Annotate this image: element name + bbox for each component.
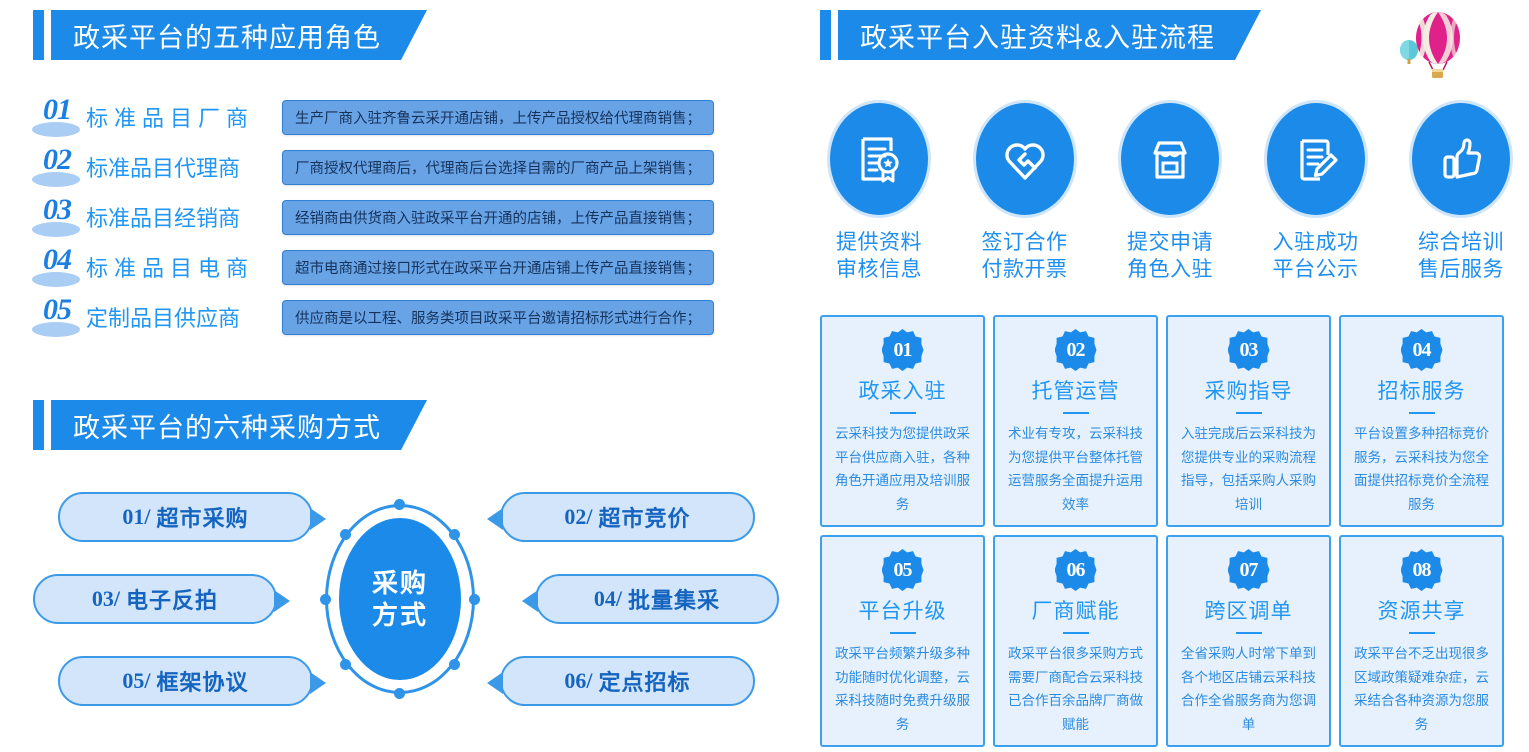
purchase-item-label: 超市竞价 — [599, 501, 691, 533]
step-caption-line1: 提交申请 — [1127, 230, 1213, 257]
hub-label-line2: 方式 — [372, 599, 428, 632]
step-caption-line2: 角色入驻 — [1127, 257, 1213, 284]
role-number: 04 — [28, 245, 86, 289]
card-body: 政采平台很多采购方式需要厂商配合云采科技已合作百余品牌厂商做赋能 — [1005, 642, 1146, 737]
purchase-item-label: 定点招标 — [599, 665, 691, 697]
role-number-text: 04 — [28, 243, 86, 277]
card-divider — [1409, 412, 1435, 414]
card-badge: 07 — [1228, 549, 1270, 591]
step-caption-line2: 平台公示 — [1273, 257, 1359, 284]
purchase-item-06[interactable]: 06/ 定点招标 — [500, 656, 755, 706]
role-title-text: 标准品目厂商 — [86, 101, 254, 133]
role-number-text: 03 — [28, 193, 86, 227]
purchase-section-title: 政采平台的六种采购方式 — [51, 400, 427, 450]
purchase-item-label: 电子反拍 — [126, 583, 218, 615]
onboarding-step[interactable]: 提交申请 角色入驻 — [1111, 100, 1229, 290]
roles-section-title: 政采平台的五种应用角色 — [51, 10, 427, 60]
card-divider — [1236, 632, 1262, 634]
purchase-wheel: 01/ 超市采购 02/ 超市竞价 03/ 电子反拍 04/ 批量集采 05/ … — [0, 480, 790, 730]
card-body: 入驻完成后云采科技为您提供专业的采购流程指导，包括采购人采购培训 — [1178, 422, 1319, 517]
thumbs-up-icon — [1435, 133, 1487, 185]
card-body: 平台设置多种招标竞价服务，云采科技为您全面提供招标竞价全流程服务 — [1351, 422, 1492, 517]
step-icon-circle — [1264, 100, 1368, 218]
purchase-item-label: 超市采购 — [157, 501, 249, 533]
role-number: 05 — [28, 295, 86, 339]
pill-tail — [522, 590, 538, 612]
role-row: 02 标准品目代理商 厂商授权代理商后，代理商后台选择自需的厂商产品上架销售； — [28, 142, 788, 192]
hub-dot — [320, 594, 331, 605]
role-number: 01 — [28, 95, 86, 139]
role-description: 超市电商通过接口形式在政采平台开通店铺上传产品直接销售； — [282, 250, 714, 285]
purchase-item-number: 01/ — [122, 504, 150, 530]
hub-dot — [449, 659, 460, 670]
hub-label-line1: 采购 — [372, 567, 428, 600]
handshake-heart-icon — [999, 133, 1051, 185]
card-badge-number: 07 — [1228, 549, 1270, 591]
card-title: 平台升级 — [859, 595, 947, 625]
card-badge-number: 03 — [1228, 329, 1270, 371]
card-badge-number: 02 — [1055, 329, 1097, 371]
step-caption-line1: 入驻成功 — [1273, 230, 1359, 257]
header-accent-bar — [33, 400, 44, 450]
service-card[interactable]: 02 托管运营 术业有专攻，云采科技为您提供平台整体托管运营服务全面提升运用效率 — [993, 315, 1158, 527]
card-title: 厂商赋能 — [1032, 595, 1120, 625]
header-gap — [44, 10, 51, 60]
card-title: 跨区调单 — [1205, 595, 1293, 625]
hub-dot — [394, 499, 405, 510]
service-card[interactable]: 04 招标服务 平台设置多种招标竞价服务，云采科技为您全面提供招标竞价全流程服务 — [1339, 315, 1504, 527]
pill-tail — [487, 672, 503, 694]
step-caption-line1: 提供资料 — [836, 230, 922, 257]
card-badge: 01 — [882, 329, 924, 371]
purchase-item-02[interactable]: 02/ 超市竞价 — [500, 492, 755, 542]
card-badge: 03 — [1228, 329, 1270, 371]
store-icon — [1144, 133, 1196, 185]
purchase-item-05[interactable]: 05/ 框架协议 — [58, 656, 313, 706]
purchase-item-number: 06/ — [564, 668, 592, 694]
role-number-text: 02 — [28, 143, 86, 177]
pill-tail — [310, 508, 326, 530]
onboarding-steps: 提供资料 审核信息 签订合作 付款开票 — [820, 100, 1520, 290]
role-row: 04 标准品目电商 超市电商通过接口形式在政采平台开通店铺上传产品直接销售； — [28, 242, 788, 292]
role-title: 定制品目供应商 — [86, 301, 282, 333]
step-caption-line2: 付款开票 — [982, 257, 1068, 284]
card-title: 托管运营 — [1032, 375, 1120, 405]
card-badge-number: 06 — [1055, 549, 1097, 591]
role-title: 标准品目电商 — [86, 251, 282, 283]
purchase-item-label: 框架协议 — [157, 665, 249, 697]
card-divider — [890, 632, 916, 634]
card-badge: 05 — [882, 549, 924, 591]
card-badge-number: 01 — [882, 329, 924, 371]
pill-tail — [310, 672, 326, 694]
card-title: 政采入驻 — [859, 375, 947, 405]
purchase-item-04[interactable]: 04/ 批量集采 — [535, 574, 779, 624]
card-divider — [1236, 412, 1262, 414]
hub-dot — [340, 659, 351, 670]
card-badge: 04 — [1401, 329, 1443, 371]
role-number: 03 — [28, 195, 86, 239]
hub-dot — [340, 529, 351, 540]
role-description: 供应商是以工程、服务类项目政采平台邀请招标形式进行合作； — [282, 300, 714, 335]
step-caption: 入驻成功 平台公示 — [1273, 230, 1359, 284]
flow-section-header: 政采平台入驻资料&入驻流程 — [820, 10, 1261, 60]
service-card[interactable]: 07 跨区调单 全省采购人时常下单到各个地区店铺云采科技合作全省服务商为您调单 — [1166, 535, 1331, 747]
pill-tail — [487, 508, 503, 530]
service-cards-grid: 01 政采入驻 云采科技为您提供政采平台供应商入驻，各种角色开通应用及培训服务 … — [820, 315, 1510, 747]
purchase-section-header: 政采平台的六种采购方式 — [33, 400, 427, 450]
roles-list: 01 标准品目厂商 生产厂商入驻齐鲁云采开通店铺，上传产品授权给代理商销售； 0… — [28, 92, 788, 342]
role-row: 05 定制品目供应商 供应商是以工程、服务类项目政采平台邀请招标形式进行合作； — [28, 292, 788, 342]
role-number-text: 05 — [28, 293, 86, 327]
role-title: 标准品目代理商 — [86, 151, 282, 183]
service-card[interactable]: 03 采购指导 入驻完成后云采科技为您提供专业的采购流程指导，包括采购人采购培训 — [1166, 315, 1331, 527]
card-body: 全省采购人时常下单到各个地区店铺云采科技合作全省服务商为您调单 — [1178, 642, 1319, 737]
purchase-item-number: 04/ — [594, 586, 622, 612]
hub-core: 采购 方式 — [339, 518, 461, 680]
role-row: 01 标准品目厂商 生产厂商入驻齐鲁云采开通店铺，上传产品授权给代理商销售； — [28, 92, 788, 142]
card-divider — [1063, 412, 1089, 414]
onboarding-step[interactable]: 入驻成功 平台公示 — [1257, 100, 1375, 290]
hub-dot — [449, 529, 460, 540]
purchase-item-number: 05/ — [122, 668, 150, 694]
step-caption-line2: 审核信息 — [836, 257, 922, 284]
step-icon-circle — [827, 100, 931, 218]
purchase-hub: 采购 方式 — [325, 504, 475, 694]
role-title-text: 标准品目代理商 — [86, 151, 240, 183]
header-accent-bar — [820, 10, 831, 60]
step-caption: 综合培训 售后服务 — [1418, 230, 1504, 284]
purchase-item-01[interactable]: 01/ 超市采购 — [58, 492, 313, 542]
card-body: 云采科技为您提供政采平台供应商入驻，各种角色开通应用及培训服务 — [832, 422, 973, 517]
step-icon-circle — [1409, 100, 1513, 218]
role-description: 生产厂商入驻齐鲁云采开通店铺，上传产品授权给代理商销售； — [282, 100, 714, 135]
service-card[interactable]: 06 厂商赋能 政采平台很多采购方式需要厂商配合云采科技已合作百余品牌厂商做赋能 — [993, 535, 1158, 747]
card-badge-number: 08 — [1401, 549, 1443, 591]
card-title: 资源共享 — [1378, 595, 1466, 625]
header-accent-bar — [33, 10, 44, 60]
service-card[interactable]: 01 政采入驻 云采科技为您提供政采平台供应商入驻，各种角色开通应用及培训服务 — [820, 315, 985, 527]
card-badge: 06 — [1055, 549, 1097, 591]
step-caption-line1: 签订合作 — [982, 230, 1068, 257]
infographic-page: 政采平台的五种应用角色 01 标准品目厂商 生产厂商入驻齐鲁云采开通店铺，上传产… — [0, 0, 1529, 752]
purchase-item-03[interactable]: 03/ 电子反拍 — [33, 574, 277, 624]
purchase-item-number: 02/ — [564, 504, 592, 530]
step-caption: 提供资料 审核信息 — [836, 230, 922, 284]
service-card[interactable]: 08 资源共享 政采平台不乏出现很多区域政策疑难杂症，云采结合各种资源为您服务 — [1339, 535, 1504, 747]
role-number: 02 — [28, 145, 86, 189]
role-title-text: 标准品目电商 — [86, 251, 254, 283]
purchase-item-number: 03/ — [92, 586, 120, 612]
step-icon-circle — [973, 100, 1077, 218]
card-divider — [1409, 632, 1435, 634]
onboarding-step[interactable]: 签订合作 付款开票 — [966, 100, 1084, 290]
roles-section-header: 政采平台的五种应用角色 — [33, 10, 427, 60]
card-badge-number: 04 — [1401, 329, 1443, 371]
flow-section-title: 政采平台入驻资料&入驻流程 — [838, 10, 1261, 60]
document-edit-icon — [1290, 133, 1342, 185]
card-badge: 02 — [1055, 329, 1097, 371]
card-divider — [890, 412, 916, 414]
hot-air-balloon-icon — [1390, 5, 1470, 85]
pill-tail — [274, 590, 290, 612]
header-gap — [44, 400, 51, 450]
card-title: 招标服务 — [1378, 375, 1466, 405]
step-caption-line1: 综合培训 — [1418, 230, 1504, 257]
service-card[interactable]: 05 平台升级 政采平台频繁升级多种功能随时优化调整，云采科技随时免费升级服务 — [820, 535, 985, 747]
step-caption: 签订合作 付款开票 — [982, 230, 1068, 284]
certificate-icon — [853, 133, 905, 185]
hub-dot — [394, 688, 405, 699]
step-icon-circle — [1118, 100, 1222, 218]
card-body: 术业有专攻，云采科技为您提供平台整体托管运营服务全面提升运用效率 — [1005, 422, 1146, 517]
purchase-item-label: 批量集采 — [628, 583, 720, 615]
role-title: 标准品目厂商 — [86, 101, 282, 133]
role-title-text: 标准品目经销商 — [86, 201, 240, 233]
step-caption: 提交申请 角色入驻 — [1127, 230, 1213, 284]
role-number-text: 01 — [28, 93, 86, 127]
card-body: 政采平台频繁升级多种功能随时优化调整，云采科技随时免费升级服务 — [832, 642, 973, 737]
role-title-text: 定制品目供应商 — [86, 301, 240, 333]
card-body: 政采平台不乏出现很多区域政策疑难杂症，云采结合各种资源为您服务 — [1351, 642, 1492, 737]
card-badge-number: 05 — [882, 549, 924, 591]
role-title: 标准品目经销商 — [86, 201, 282, 233]
card-badge: 08 — [1401, 549, 1443, 591]
onboarding-step[interactable]: 综合培训 售后服务 — [1402, 100, 1520, 290]
role-description: 厂商授权代理商后，代理商后台选择自需的厂商产品上架销售； — [282, 150, 714, 185]
card-title: 采购指导 — [1205, 375, 1293, 405]
card-divider — [1063, 632, 1089, 634]
step-caption-line2: 售后服务 — [1418, 257, 1504, 284]
role-description: 经销商由供货商入驻政采平台开通的店铺，上传产品直接销售； — [282, 200, 714, 235]
header-gap — [831, 10, 838, 60]
role-row: 03 标准品目经销商 经销商由供货商入驻政采平台开通的店铺，上传产品直接销售； — [28, 192, 788, 242]
onboarding-step[interactable]: 提供资料 审核信息 — [820, 100, 938, 290]
hub-dot — [469, 594, 480, 605]
